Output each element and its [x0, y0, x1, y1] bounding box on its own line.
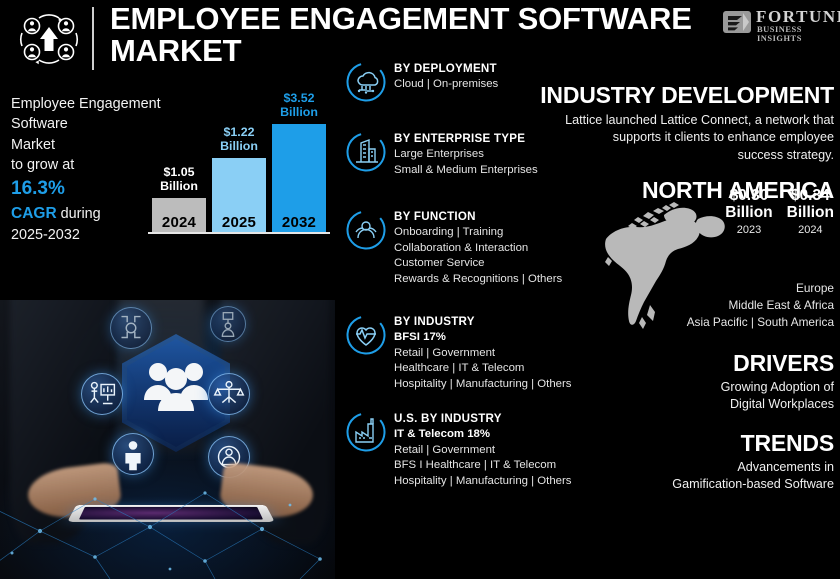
region-item: Asia Pacific | South America	[687, 314, 834, 331]
segment-line: Retail | Government	[394, 443, 554, 459]
right-panel: INDUSTRY DEVELOPMENT Lattice launched La…	[540, 72, 840, 507]
industry-development-heading: INDUSTRY DEVELOPMENT	[540, 82, 834, 109]
bar-value-2024: $1.05	[143, 166, 215, 180]
na-figure-2024: $0.34 Billion 2024	[787, 187, 834, 236]
industry-development-body: Lattice launched Lattice Connect, a netw…	[542, 112, 834, 164]
fortune-fb-monogram-icon	[722, 10, 752, 34]
employee-engagement-cycle-icon	[14, 11, 84, 66]
segment-line: Large Enterprises	[394, 147, 554, 163]
people-group-icon	[142, 358, 210, 414]
hero-photo	[0, 300, 335, 579]
segment-top-share: IT & Telecom 18%	[394, 427, 554, 443]
heartbeat-pulse-icon	[344, 313, 388, 357]
region-item: Europe	[687, 280, 834, 297]
segment-line: Cloud | On-premises	[394, 77, 554, 93]
regions-list: Europe Middle East & Africa Asia Pacific…	[687, 280, 834, 330]
segment-line: Onboarding | Training	[394, 225, 554, 241]
drivers-line-2: Digital Workplaces	[721, 396, 834, 413]
segment-line: Retail | Government	[394, 346, 554, 362]
segment-body: BY FUNCTION Onboarding | Training Collab…	[394, 210, 554, 288]
segment-line: BFS I Healthcare | IT & Telecom	[394, 458, 554, 474]
person-podium-icon	[210, 306, 246, 342]
na-figure-2023: $0.30 Billion 2023	[725, 187, 772, 236]
segment-body: BY DEPLOYMENT Cloud | On-premises	[394, 62, 554, 93]
north-america-figures: $0.30 Billion 2023 $0.34 Billion 2024	[686, 187, 834, 236]
user-gear-support-icon	[344, 208, 388, 252]
cloud-network-icon	[344, 60, 388, 104]
cagr-label: CAGR	[11, 205, 57, 222]
na-value-2024: $0.34	[787, 187, 834, 204]
infographic-root: EMPLOYEE ENGAGEMENT SOFTWARE MARKET FORT…	[0, 0, 840, 507]
segment-line: Rewards & Recognitions | Others	[394, 272, 554, 288]
bar-unit-2025: Billion	[203, 140, 275, 154]
trends-heading: TRENDS	[741, 430, 834, 457]
industry-development-line-2: supports it clients to enhance employee	[542, 129, 834, 146]
bar-group-2032: $3.52 Billion 2032	[272, 124, 326, 232]
segment-body: BY ENTERPRISE TYPE Large Enterprises Sma…	[394, 132, 554, 178]
region-item: Middle East & Africa	[687, 297, 834, 314]
segment-title: BY INDUSTRY	[394, 315, 554, 328]
na-year-2024: 2024	[787, 224, 834, 236]
na-year-2023: 2023	[725, 224, 772, 236]
cagr-during-text: during	[57, 206, 101, 222]
bar-unit-2032: Billion	[263, 106, 335, 120]
segment-title: BY ENTERPRISE TYPE	[394, 132, 554, 145]
bar-group-2024: $1.05 Billion 2024	[152, 198, 206, 232]
bar-group-2025: $1.22 Billion 2025	[212, 158, 266, 232]
title-divider	[92, 7, 94, 70]
segment-body: BY INDUSTRY BFSI 17% Retail | Government…	[394, 315, 554, 393]
segment-line: Small & Medium Enterprises	[394, 163, 554, 179]
drivers-line-1: Growing Adoption of	[721, 379, 834, 396]
segment-title: BY DEPLOYMENT	[394, 62, 554, 75]
chart-baseline	[148, 232, 330, 234]
brand-name: FORTUNE	[756, 7, 840, 27]
bar-value-2025: $1.22	[203, 126, 275, 140]
brand-tagline: BUSINESS INSIGHTS	[757, 25, 834, 43]
fortune-business-insights-logo: FORTUNE BUSINESS INSIGHTS	[722, 8, 834, 40]
segment-title: U.S. BY INDUSTRY	[394, 412, 554, 425]
segment-title: BY FUNCTION	[394, 210, 554, 223]
bar-value-2032: $3.52	[263, 92, 335, 106]
bar-year-2032: 2032	[272, 214, 326, 231]
market-size-bar-chart: $1.05 Billion 2024 $1.22 Billion 2025 $3…	[148, 90, 328, 232]
segment-line: Hospitality | Manufacturing | Others	[394, 474, 554, 490]
left-panel: Employee Engagement Software Market to g…	[0, 72, 335, 507]
balance-scale-person-icon	[208, 373, 250, 415]
presenter-chart-icon	[81, 373, 123, 415]
na-unit-2024: Billion	[787, 204, 834, 221]
bar-unit-2024: Billion	[143, 180, 215, 194]
factory-industry-icon	[344, 410, 388, 454]
trends-line-2: Gamification-based Software	[672, 476, 834, 493]
na-unit-2023: Billion	[725, 204, 772, 221]
page-title: EMPLOYEE ENGAGEMENT SOFTWARE MARKET	[110, 3, 710, 67]
office-buildings-icon	[344, 130, 388, 174]
bar-label-2032: $3.52 Billion	[263, 92, 335, 124]
drivers-body: Growing Adoption of Digital Workplaces	[721, 379, 834, 414]
bar-year-2025: 2025	[212, 214, 266, 231]
segment-body: U.S. BY INDUSTRY IT & Telecom 18% Retail…	[394, 412, 554, 490]
network-lines-decoration	[0, 469, 335, 579]
segment-line: Hospitality | Manufacturing | Others	[394, 377, 554, 393]
segment-line: Healthcare | IT & Telecom	[394, 361, 554, 377]
bar-year-2024: 2024	[152, 214, 206, 231]
industry-development-line-1: Lattice launched Lattice Connect, a netw…	[542, 112, 834, 129]
segment-line: Customer Service	[394, 256, 554, 272]
bar-label-2025: $1.22 Billion	[203, 126, 275, 158]
segment-top-share: BFSI 17%	[394, 330, 554, 346]
na-value-2023: $0.30	[725, 187, 772, 204]
industry-development-line-3: success strategy.	[542, 147, 834, 164]
segment-line: Collaboration & Interaction	[394, 241, 554, 257]
trends-body: Advancements in Gamification-based Softw…	[672, 459, 834, 494]
trends-line-1: Advancements in	[672, 459, 834, 476]
drivers-heading: DRIVERS	[733, 350, 834, 377]
segmentation-column: BY DEPLOYMENT Cloud | On-premises BY ENT…	[340, 60, 550, 507]
process-cycle-icon	[110, 307, 152, 349]
bar-label-2024: $1.05 Billion	[143, 166, 215, 198]
